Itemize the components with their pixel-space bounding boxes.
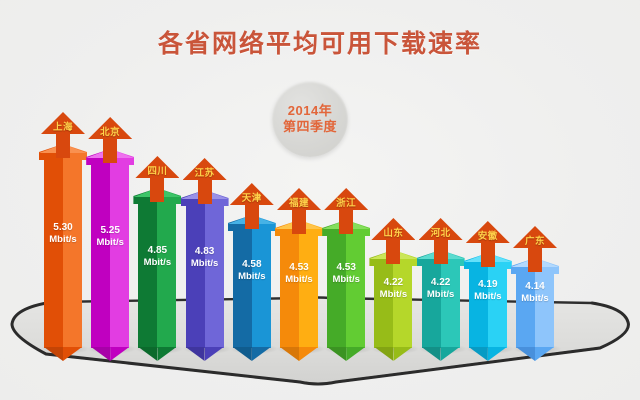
bar-foot-left <box>280 347 299 361</box>
bar-face-left <box>233 223 252 348</box>
bar-广东[interactable]: 4.14Mbit/s广东 <box>516 266 554 348</box>
province-label: 江苏 <box>183 165 227 179</box>
bar-foot-right <box>110 347 129 361</box>
bar-face-left <box>280 228 299 348</box>
bar-foot <box>280 347 318 361</box>
arrow-marker-安徽[interactable]: 安徽 <box>466 221 510 267</box>
arrow-marker-上海[interactable]: 上海 <box>41 112 85 158</box>
province-label: 河北 <box>419 225 463 239</box>
bar-foot <box>233 347 271 361</box>
arrow-marker-山东[interactable]: 山东 <box>371 218 415 264</box>
bar-face-right <box>157 196 176 348</box>
bar-foot-right <box>535 347 554 361</box>
bar-face-left <box>186 198 205 348</box>
bar-foot-left <box>422 347 441 361</box>
bar-face-left <box>422 258 441 348</box>
bar-face-left <box>469 261 488 348</box>
bar-face-left <box>91 157 110 348</box>
arrow-marker-江苏[interactable]: 江苏 <box>183 158 227 204</box>
bar-face-left <box>374 258 393 348</box>
arrow-marker-北京[interactable]: 北京 <box>88 117 132 163</box>
arrow-shaft <box>434 238 448 264</box>
province-label: 四川 <box>135 163 179 177</box>
bar-foot <box>516 347 554 361</box>
bar-安徽[interactable]: 4.19Mbit/s安徽 <box>469 261 507 348</box>
bar-foot-left <box>516 347 535 361</box>
bar-face-right <box>346 228 365 348</box>
bar-foot <box>91 347 129 361</box>
bar-column <box>280 228 318 348</box>
bar-face-left <box>138 196 157 348</box>
bar-face-right <box>299 228 318 348</box>
infographic-canvas: 各省网络平均可用下载速率 2014年 第四季度 5.30Mbit/s上海5.25… <box>0 0 640 400</box>
arrow-shaft <box>386 238 400 264</box>
bar-foot-right <box>63 347 82 361</box>
bar-column <box>327 228 365 348</box>
arrow-shaft <box>292 208 306 234</box>
arrow-shaft <box>103 137 117 163</box>
arrow-marker-福建[interactable]: 福建 <box>277 188 321 234</box>
bar-column <box>469 261 507 348</box>
bar-浙江[interactable]: 4.53Mbit/s浙江 <box>327 228 365 348</box>
bar-face-right <box>535 266 554 348</box>
bar-foot-right <box>205 347 224 361</box>
bar-face-right <box>488 261 507 348</box>
bar-face-left <box>44 152 63 348</box>
bar-column <box>374 258 412 348</box>
bar-face-left <box>516 266 535 348</box>
bar-上海[interactable]: 5.30Mbit/s上海 <box>44 152 82 348</box>
bar-face-right <box>63 152 82 348</box>
bar-foot <box>422 347 460 361</box>
bar-foot-right <box>299 347 318 361</box>
bar-face-right <box>205 198 224 348</box>
bar-山东[interactable]: 4.22Mbit/s山东 <box>374 258 412 348</box>
bar-foot <box>374 347 412 361</box>
arrow-shaft <box>56 132 70 158</box>
bar-face-right <box>441 258 460 348</box>
province-label: 福建 <box>277 195 321 209</box>
bar-foot <box>327 347 365 361</box>
province-label: 上海 <box>41 119 85 133</box>
bar-foot-right <box>441 347 460 361</box>
bar-foot <box>138 347 176 361</box>
bar-face-right <box>252 223 271 348</box>
bar-chart: 5.30Mbit/s上海5.25Mbit/s北京4.85Mbit/s四川4.83… <box>0 0 640 400</box>
bar-foot-right <box>252 347 271 361</box>
bar-column <box>233 223 271 348</box>
bar-北京[interactable]: 5.25Mbit/s北京 <box>91 157 129 348</box>
bar-foot-left <box>327 347 346 361</box>
province-label: 安徽 <box>466 228 510 242</box>
bar-江苏[interactable]: 4.83Mbit/s江苏 <box>186 198 224 348</box>
bar-foot-right <box>157 347 176 361</box>
bar-foot <box>186 347 224 361</box>
arrow-shaft <box>481 241 495 267</box>
bar-face-right <box>393 258 412 348</box>
bar-foot-left <box>138 347 157 361</box>
province-label: 北京 <box>88 124 132 138</box>
bar-column <box>422 258 460 348</box>
arrow-marker-浙江[interactable]: 浙江 <box>324 188 368 234</box>
arrow-shaft <box>528 246 542 272</box>
bar-face-left <box>327 228 346 348</box>
arrow-marker-四川[interactable]: 四川 <box>135 156 179 202</box>
bar-column <box>186 198 224 348</box>
bar-foot-left <box>374 347 393 361</box>
bar-foot-left <box>233 347 252 361</box>
bar-column <box>91 157 129 348</box>
bar-column <box>516 266 554 348</box>
bar-foot-left <box>186 347 205 361</box>
bar-column <box>138 196 176 348</box>
bar-foot-left <box>91 347 110 361</box>
arrow-shaft <box>245 203 259 229</box>
bar-天津[interactable]: 4.58Mbit/s天津 <box>233 223 271 348</box>
province-label: 广东 <box>513 233 557 247</box>
arrow-shaft <box>150 176 164 202</box>
bar-foot <box>469 347 507 361</box>
province-label: 浙江 <box>324 195 368 209</box>
bar-福建[interactable]: 4.53Mbit/s福建 <box>280 228 318 348</box>
bar-column <box>44 152 82 348</box>
bar-foot-right <box>488 347 507 361</box>
arrow-marker-天津[interactable]: 天津 <box>230 183 274 229</box>
arrow-marker-广东[interactable]: 广东 <box>513 226 557 272</box>
province-label: 天津 <box>230 190 274 204</box>
bar-foot-right <box>346 347 365 361</box>
bar-foot-left <box>44 347 63 361</box>
bar-四川[interactable]: 4.85Mbit/s四川 <box>138 196 176 348</box>
arrow-marker-河北[interactable]: 河北 <box>419 218 463 264</box>
bar-foot <box>44 347 82 361</box>
province-label: 山东 <box>371 225 415 239</box>
bar-河北[interactable]: 4.22Mbit/s河北 <box>422 258 460 348</box>
bar-foot-left <box>469 347 488 361</box>
arrow-shaft <box>339 208 353 234</box>
bar-face-right <box>110 157 129 348</box>
bar-foot-right <box>393 347 412 361</box>
arrow-shaft <box>198 178 212 204</box>
